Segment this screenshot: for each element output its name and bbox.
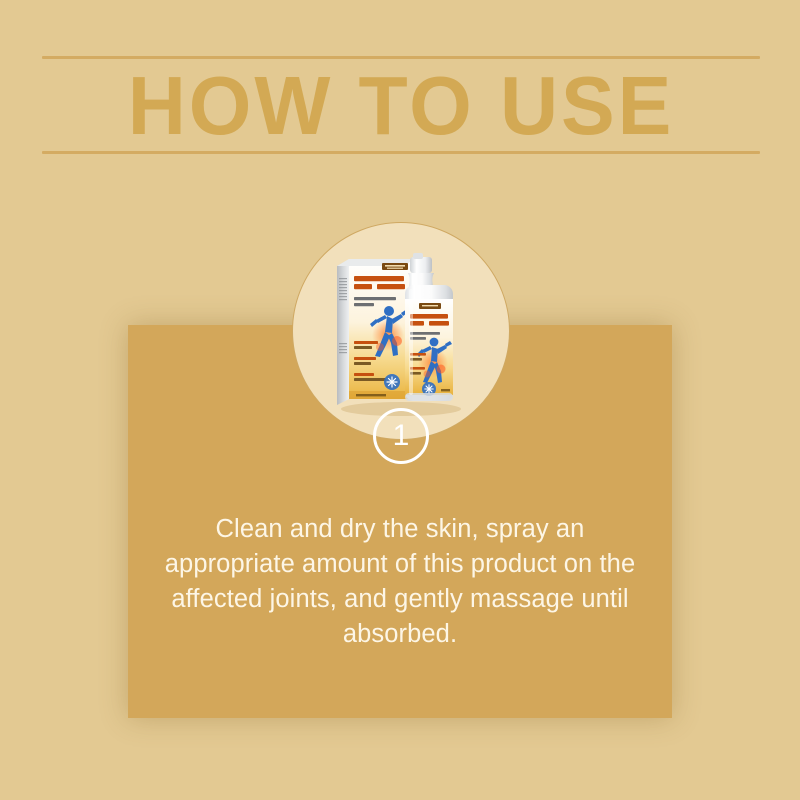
step-number-label: 1 [376, 411, 426, 461]
product-box-graphic [337, 259, 415, 405]
how-to-use-poster: HOW TO USE [0, 0, 800, 800]
step-number-badge: 1 [373, 408, 429, 464]
title-bottom-rule [42, 151, 760, 154]
page-title: HOW TO USE [53, 62, 749, 150]
spray-bottle-graphic [405, 253, 453, 401]
header-block: HOW TO USE [42, 56, 760, 154]
instruction-text: Clean and dry the skin, spray an appropr… [158, 512, 642, 652]
snowflake-icon [384, 374, 400, 390]
